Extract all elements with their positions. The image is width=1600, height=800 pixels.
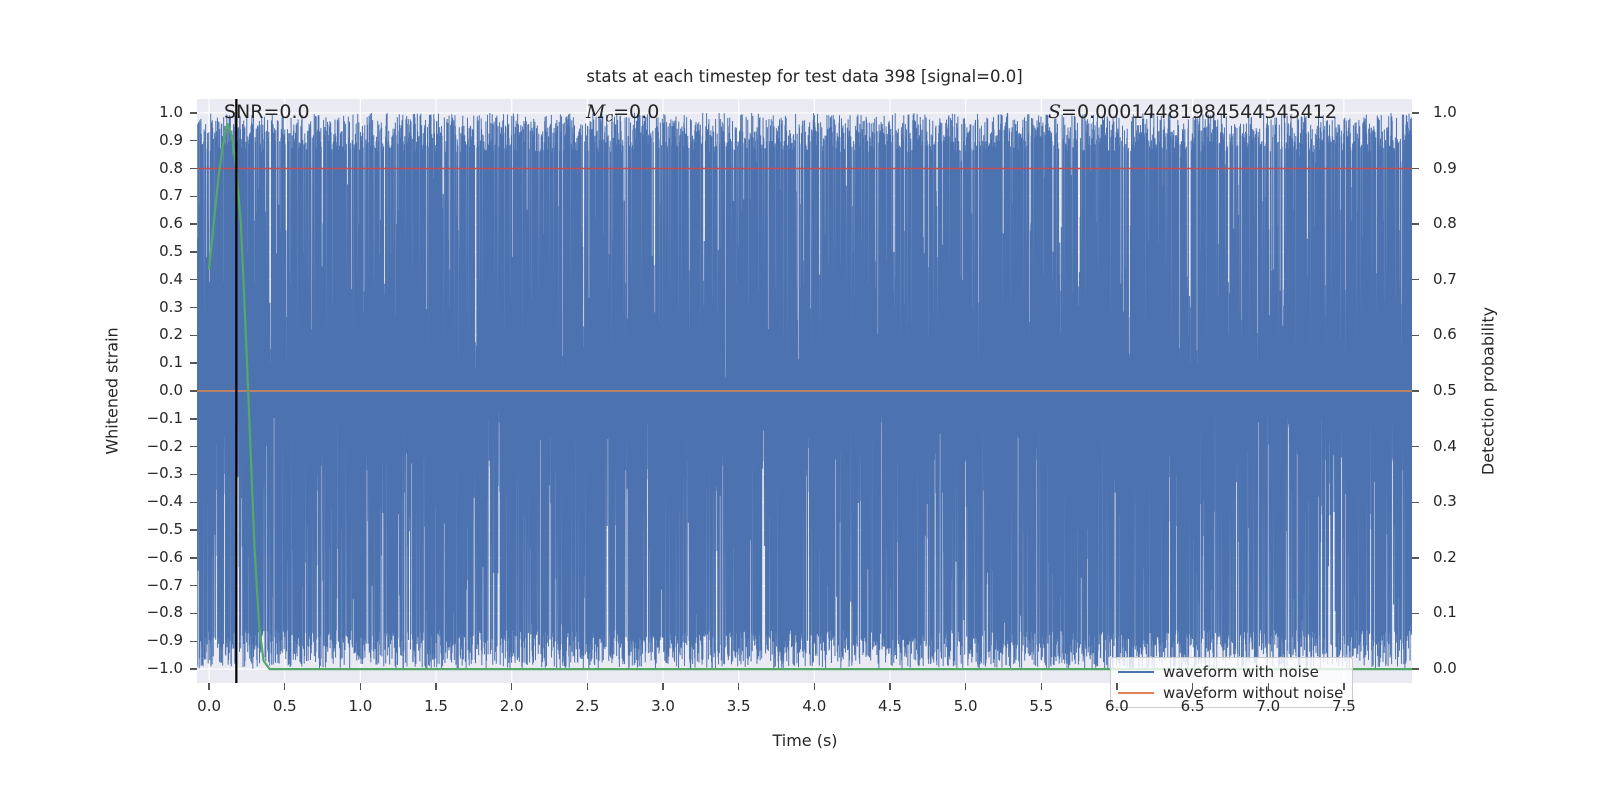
y-axis-right-tick-mark [1412,223,1419,224]
y-axis-left-tick-mark [190,668,197,669]
y-axis-left-tick-label: 0.9 [159,131,183,149]
y-axis-left-tick-label: 0.6 [159,214,183,232]
x-axis-tick-mark [965,683,966,690]
plot-canvas [197,99,1412,683]
y-axis-right-tick-label: 0.6 [1433,325,1457,343]
y-axis-right-tick-label: 0.0 [1433,659,1457,677]
annotation-snr: SNR=0.0 [224,101,310,123]
annotation-mc-value: =0.0 [613,101,659,123]
y-axis-left-tick-label: 0.4 [159,270,183,288]
y-axis-left-tick-mark [190,446,197,447]
matplotlib-figure: stats at each timestep for test data 398… [0,0,1600,800]
annotation-chirp-mass: Mc=0.0 [586,101,659,125]
x-axis-tick-label: 3.5 [709,697,769,715]
x-axis-tick-mark [360,683,361,690]
y-axis-right-tick-label: 0.1 [1433,603,1457,621]
y-axis-left-tick-mark [190,474,197,475]
y-axis-left-tick-label: 1.0 [159,103,183,121]
annotation-statistic: S=0.00014481984544545412 [1048,101,1337,123]
y-axis-left-tick-mark [190,112,197,113]
y-axis-right-tick-label: 0.8 [1433,214,1457,232]
x-axis-tick-label: 5.5 [1011,697,1071,715]
x-axis-tick-label: 4.0 [784,697,844,715]
y-axis-right-tick-mark [1412,168,1419,169]
annotation-mc-symbol: M [586,101,605,123]
x-axis-tick-mark [284,683,285,690]
y-axis-left-tick-label: −0.6 [147,548,183,566]
y-axis-left-tick-label: −0.8 [147,603,183,621]
legend-label: waveform with noise [1163,663,1319,681]
x-axis-tick-label: 1.5 [406,697,466,715]
plot-axes-area [197,99,1412,683]
y-axis-right-tick-label: 0.7 [1433,270,1457,288]
y-axis-right-tick-mark [1412,279,1419,280]
y-axis-right-tick-mark [1412,668,1419,669]
y-axis-left-tick-mark [190,557,197,558]
y-axis-left-tick-label: −0.1 [147,409,183,427]
y-axis-right-tick-label: 0.5 [1433,381,1457,399]
y-axis-left-tick-mark [190,418,197,419]
x-axis-tick-mark [1041,683,1042,690]
y-axis-left-tick-mark [190,251,197,252]
y-axis-left-tick-label: −0.3 [147,464,183,482]
x-axis-tick-mark [662,683,663,690]
y-axis-left-tick-label: 0.0 [159,381,183,399]
x-axis-tick-mark [1268,683,1269,690]
annotation-s-value: =0.00014481984544545412 [1061,101,1337,123]
y-axis-right-tick-label: 0.3 [1433,492,1457,510]
y-axis-left-tick-mark [190,168,197,169]
x-axis-tick-label: 7.5 [1314,697,1374,715]
y-axis-left-tick-mark [190,362,197,363]
y-axis-right-tick-label: 1.0 [1433,103,1457,121]
y-axis-left-tick-label: 0.3 [159,298,183,316]
x-axis-tick-label: 1.0 [330,697,390,715]
y-axis-left-tick-mark [190,223,197,224]
y-axis-right-tick-mark [1412,112,1419,113]
y-axis-left-tick-mark [190,585,197,586]
x-axis-tick-mark [511,683,512,690]
x-axis-tick-mark [889,683,890,690]
y-axis-left-tick-mark [190,307,197,308]
y-axis-left-tick-mark [190,140,197,141]
y-axis-left-tick-label: 0.1 [159,353,183,371]
y-axis-left-tick-mark [190,279,197,280]
x-axis-tick-label: 2.0 [482,697,542,715]
annotation-snr-value: 0.0 [279,101,309,123]
y-axis-right-tick-label: 0.9 [1433,159,1457,177]
y-axis-left-tick-label: −0.9 [147,631,183,649]
x-axis-tick-mark [1343,683,1344,690]
x-axis-tick-mark [1192,683,1193,690]
legend-item[interactable]: waveform without noise [1118,684,1343,702]
y-axis-left-tick-label: 0.8 [159,159,183,177]
y-axis-left-tick-label: 0.5 [159,242,183,260]
y-axis-left-label: Whitened strain [103,327,122,454]
y-axis-left-tick-label: −0.4 [147,492,183,510]
x-axis-tick-mark [435,683,436,690]
y-axis-left-tick-label: −0.2 [147,437,183,455]
y-axis-left-tick-label: −1.0 [147,659,183,677]
y-axis-right-tick-mark [1412,502,1419,503]
x-axis-tick-mark [1116,683,1117,690]
y-axis-left-tick-label: 0.7 [159,186,183,204]
y-axis-left-tick-label: −0.5 [147,520,183,538]
y-axis-right-tick-mark [1412,613,1419,614]
y-axis-left-tick-label: −0.7 [147,576,183,594]
y-axis-right-label: Detection probability [1479,307,1498,475]
legend-swatch-noise [1118,671,1154,673]
y-axis-right-tick-label: 0.4 [1433,437,1457,455]
x-axis-tick-label: 6.5 [1163,697,1223,715]
x-axis-tick-label: 4.5 [860,697,920,715]
legend-item[interactable]: waveform with noise [1118,663,1343,681]
annotation-mc-subscript: c [605,109,613,125]
y-axis-right-tick-mark [1412,557,1419,558]
y-axis-right-tick-mark [1412,335,1419,336]
y-axis-left-tick-mark [190,613,197,614]
x-axis-tick-mark [208,683,209,690]
x-axis-label: Time (s) [772,731,837,750]
y-axis-left-tick-mark [190,196,197,197]
y-axis-left-tick-mark [190,335,197,336]
y-axis-right-tick-label: 0.2 [1433,548,1457,566]
y-axis-left-tick-mark [190,641,197,642]
x-axis-tick-label: 0.5 [255,697,315,715]
y-axis-right-tick-mark [1412,390,1419,391]
y-axis-right-tick-mark [1412,446,1419,447]
legend-swatch-clean [1118,692,1154,694]
x-axis-tick-label: 5.0 [936,697,996,715]
y-axis-left-tick-label: 0.2 [159,325,183,343]
x-axis-tick-mark [738,683,739,690]
x-axis-tick-label: 3.0 [633,697,693,715]
x-axis-tick-label: 6.0 [1087,697,1147,715]
x-axis-tick-mark [587,683,588,690]
x-axis-tick-label: 2.5 [557,697,617,715]
x-axis-tick-label: 7.0 [1238,697,1298,715]
chart-title: stats at each timestep for test data 398… [197,67,1412,86]
x-axis-tick-mark [814,683,815,690]
x-axis-tick-label: 0.0 [179,697,239,715]
y-axis-left-tick-mark [190,390,197,391]
annotation-s-symbol: S [1048,101,1061,123]
y-axis-left-tick-mark [190,502,197,503]
y-axis-left-tick-mark [190,529,197,530]
annotation-snr-text: SNR= [224,101,279,123]
